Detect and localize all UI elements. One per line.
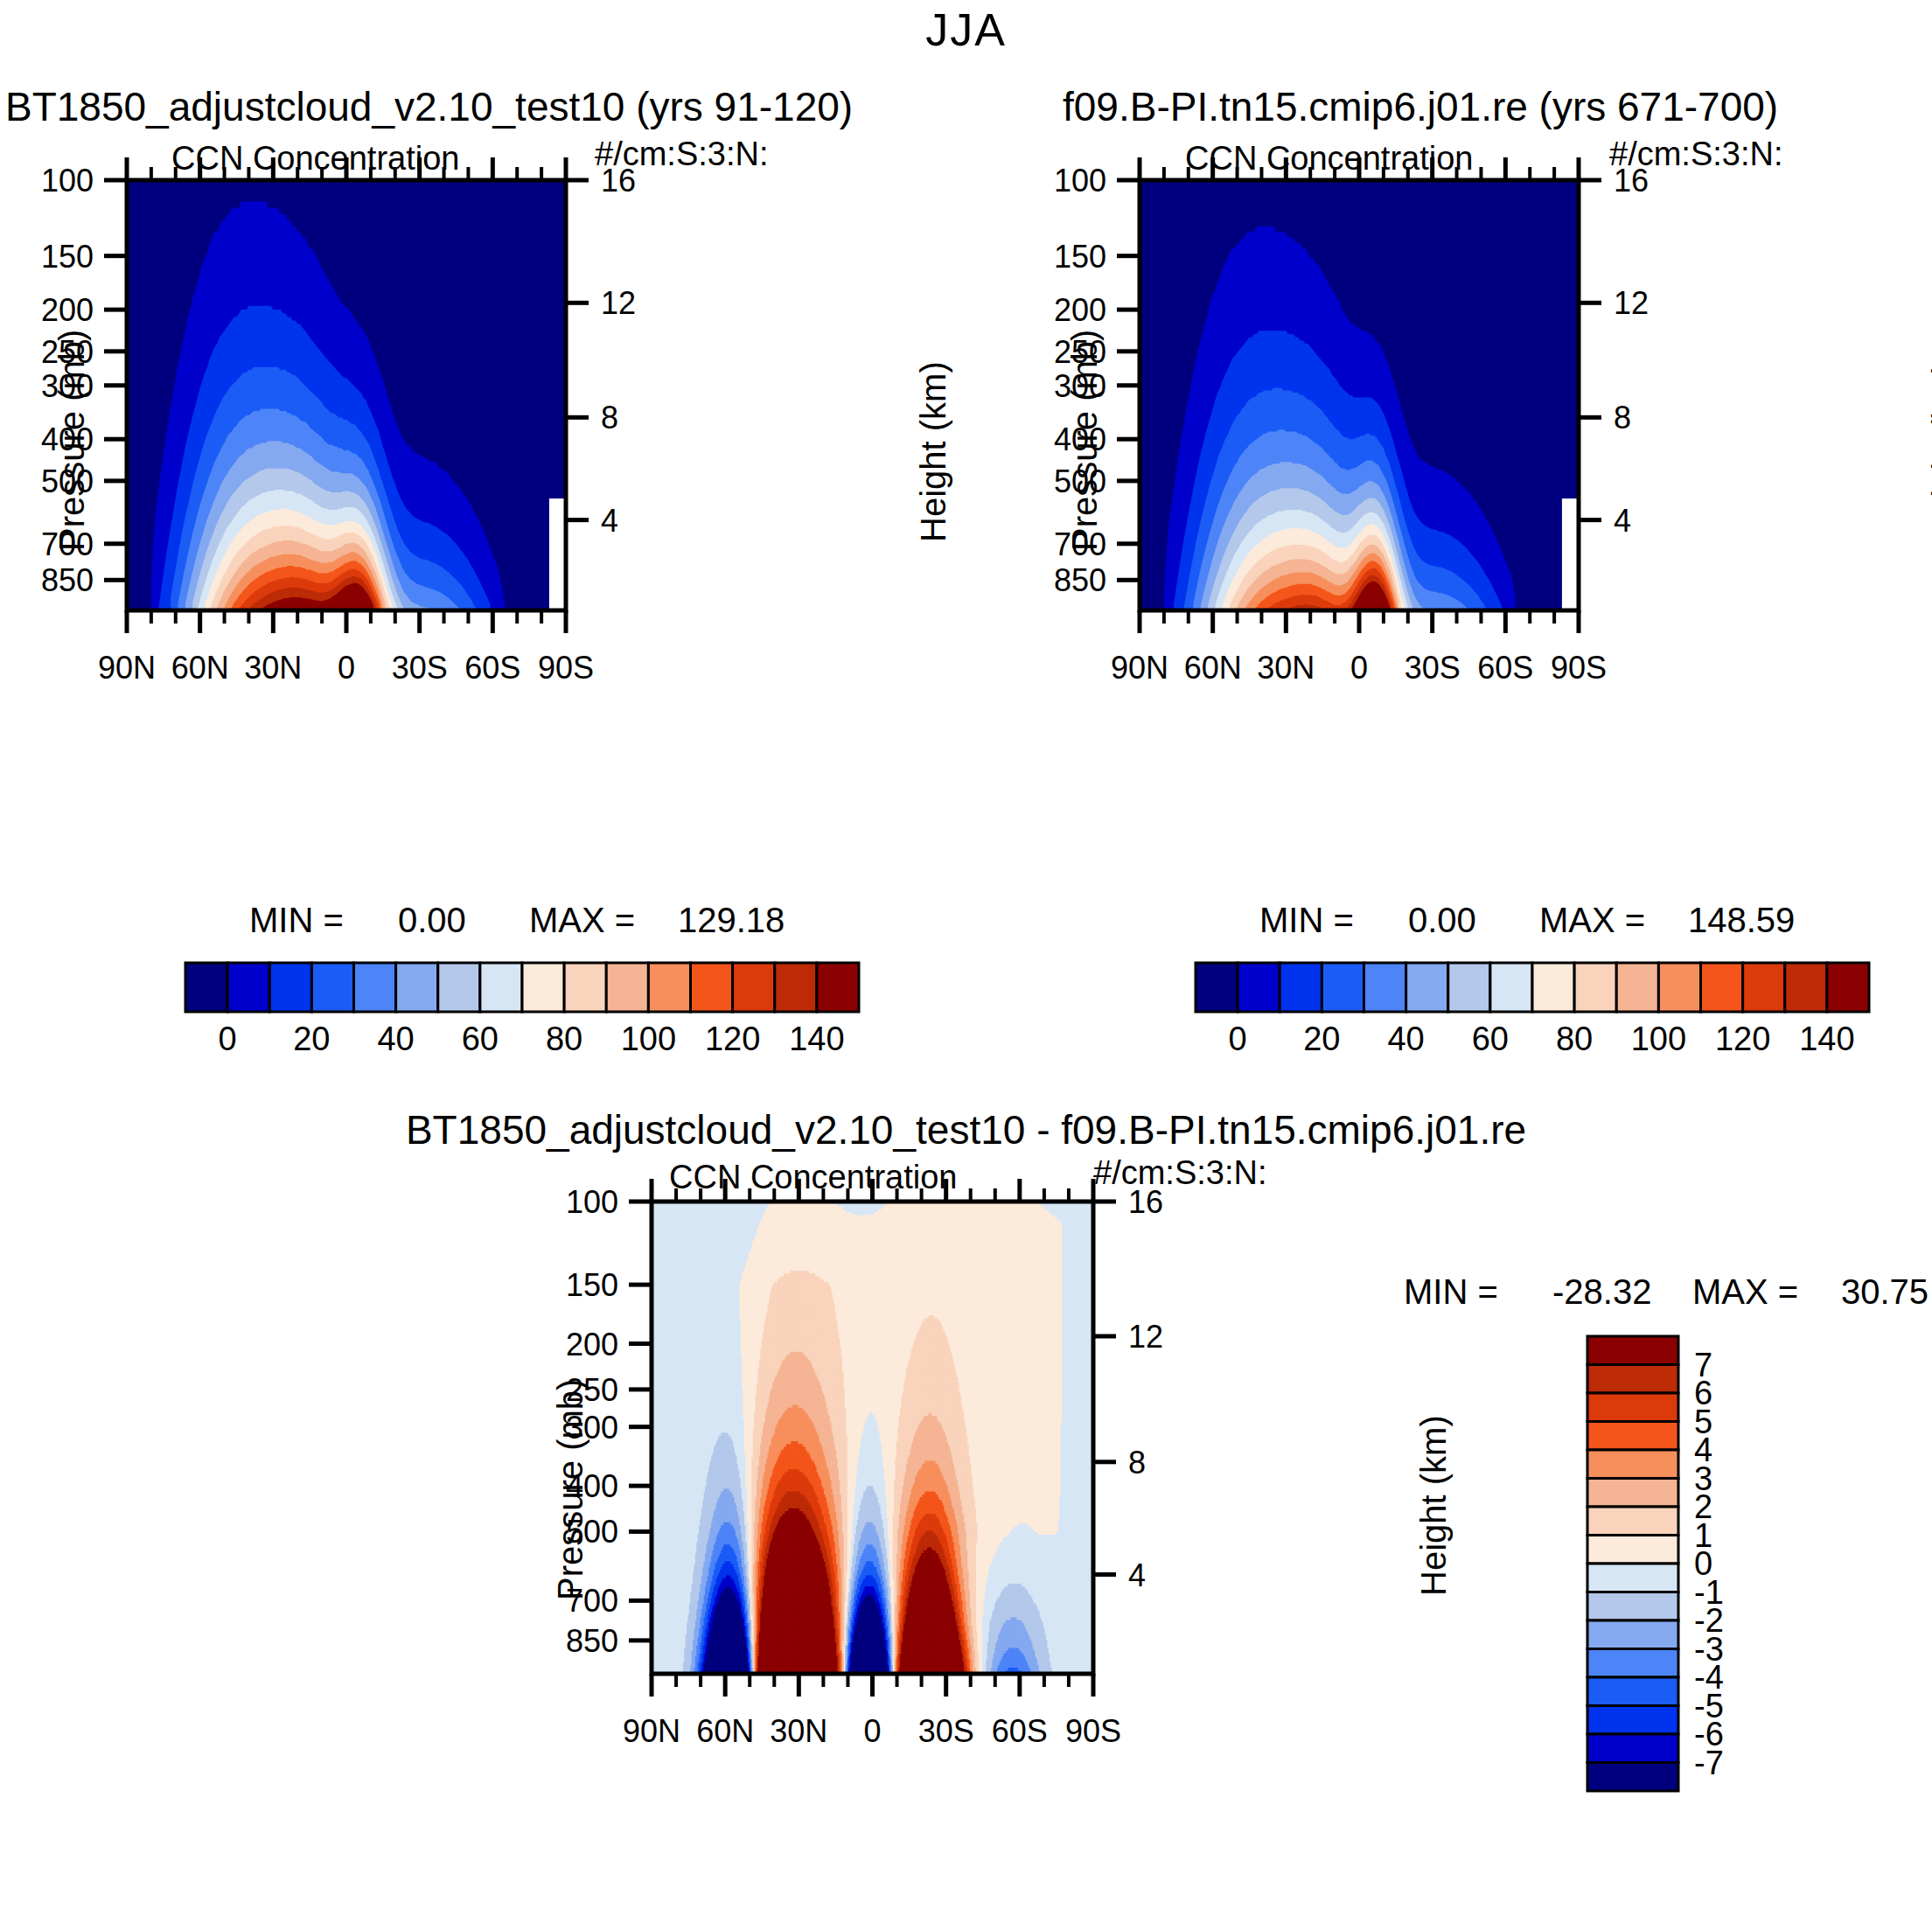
right-max-value: 148.59 (1688, 901, 1795, 940)
pressure-tick-label: 500 (1054, 463, 1106, 499)
lat-tick-label: 30N (770, 1713, 827, 1749)
colorbar-cell[interactable] (1490, 963, 1532, 1012)
colorbar-tick-label: 20 (1303, 1021, 1340, 1057)
colorbar-tick-label: 100 (621, 1021, 676, 1057)
contour-fill-region (1140, 180, 1579, 610)
colorbar-cell[interactable] (775, 963, 817, 1012)
lat-tick-label: 60S (1477, 650, 1533, 686)
colorbar-cell[interactable] (438, 963, 480, 1012)
colorbar-cell[interactable] (1587, 1564, 1678, 1592)
colorbar-cell[interactable] (1280, 963, 1322, 1012)
colorbar-cell[interactable] (817, 963, 859, 1012)
height-tick-label: 16 (1128, 1184, 1163, 1220)
left-contour-plot: 10015020025030040050070085016128490N60N3… (0, 175, 945, 909)
diff-max-value: 30.75 (1841, 1272, 1929, 1312)
colorbar-cell[interactable] (1196, 963, 1238, 1012)
lat-tick-label: 30S (1405, 650, 1461, 686)
lat-tick-label: 30S (918, 1713, 974, 1749)
lat-tick-label: 90N (623, 1713, 680, 1749)
right-min-value: 0.00 (1408, 901, 1476, 940)
right-max-label: MAX = (1539, 901, 1645, 940)
lat-tick-label: 0 (1350, 650, 1368, 686)
colorbar-cell[interactable] (1587, 1365, 1678, 1394)
colorbar-cell[interactable] (354, 963, 396, 1012)
colorbar-cell[interactable] (1587, 1479, 1678, 1508)
left-variable-label: CCN Concentration (171, 140, 459, 178)
height-tick-label: 12 (601, 285, 636, 321)
height-tick-label: 16 (601, 163, 636, 199)
colorbar-tick-label: 20 (293, 1021, 330, 1057)
colorbar-tick-label: 140 (789, 1021, 844, 1057)
colorbar-tick-label: 120 (1715, 1021, 1770, 1057)
colorbar-cell[interactable] (1587, 1706, 1678, 1735)
lat-tick-label: 90N (1111, 650, 1168, 686)
colorbar-cell[interactable] (1658, 963, 1700, 1012)
colorbar-cell[interactable] (1587, 1393, 1678, 1422)
height-tick-label: 4 (1128, 1557, 1146, 1593)
colorbar-cell[interactable] (1587, 1763, 1678, 1792)
lat-tick-label: 60S (464, 650, 520, 686)
height-tick-label: 8 (601, 400, 618, 435)
lat-tick-label: 0 (338, 650, 355, 686)
diff-max-label: MAX = (1692, 1272, 1798, 1312)
left-panel-title: BT1850_adjustcloud_v2.10_test10 (yrs 91-… (5, 83, 853, 130)
diff-units-label: #/cm:S:3:N: (1093, 1154, 1267, 1192)
colorbar-tick-label: 140 (1799, 1021, 1854, 1057)
pressure-tick-label: 150 (566, 1267, 618, 1303)
colorbar-tick-label: 80 (546, 1021, 582, 1057)
season-title: JJA (925, 3, 1007, 56)
pressure-tick-label: 850 (1054, 562, 1106, 598)
colorbar-cell[interactable] (311, 963, 353, 1012)
pressure-tick-label: 500 (41, 463, 94, 499)
colorbar-cell[interactable] (733, 963, 775, 1012)
right-panel-title: f09.B-PI.tn15.cmip6.j01.re (yrs 671-700) (1063, 83, 1778, 130)
left-max-value: 129.18 (678, 901, 785, 940)
lat-tick-label: 60N (1184, 650, 1242, 686)
pressure-tick-label: 400 (41, 422, 94, 457)
colorbar-cell[interactable] (1743, 963, 1785, 1012)
diff-contour-plot: 10015020025030040050070085016128490N60N3… (499, 1196, 1461, 1923)
lat-tick-label: 0 (863, 1713, 881, 1749)
left-min-label: MIN = (249, 901, 344, 940)
left-max-label: MAX = (529, 901, 635, 940)
diff-min-value: -28.32 (1552, 1272, 1651, 1312)
colorbar-cell[interactable] (1587, 1620, 1678, 1649)
lat-tick-label: 90S (538, 650, 594, 686)
lat-tick-label: 60N (696, 1713, 754, 1749)
pressure-tick-label: 150 (41, 239, 94, 275)
lat-tick-label: 90N (98, 650, 156, 686)
right-min-label: MIN = (1259, 901, 1354, 940)
colorbar-cell[interactable] (1587, 1507, 1678, 1536)
pressure-tick-label: 400 (1054, 422, 1106, 457)
colorbar-cell[interactable] (396, 963, 438, 1012)
colorbar-tick-label: 120 (705, 1021, 760, 1057)
colorbar-cell[interactable] (1616, 963, 1658, 1012)
colorbar-cell[interactable] (1587, 1536, 1678, 1564)
lat-tick-label: 30N (1257, 650, 1315, 686)
colorbar-tick-label: 0 (1229, 1021, 1247, 1057)
pressure-tick-label: 200 (566, 1327, 618, 1362)
colorbar-cell[interactable] (1587, 1734, 1678, 1763)
pressure-tick-label: 700 (1054, 526, 1106, 562)
diff-colorbar[interactable]: 76543210-1-2-3-4-5-6-7 (1579, 1329, 1771, 1819)
colorbar-tick-label: -7 (1694, 1745, 1724, 1781)
pressure-tick-label: 250 (41, 334, 94, 370)
pressure-tick-label: 100 (1054, 163, 1106, 199)
colorbar-cell[interactable] (185, 963, 227, 1012)
left-min-value: 0.00 (398, 901, 466, 940)
colorbar-cell[interactable] (606, 963, 648, 1012)
colorbar-tick-label: 60 (462, 1021, 499, 1057)
height-tick-label: 12 (1614, 285, 1649, 321)
lat-tick-label: 60S (992, 1713, 1048, 1749)
lat-tick-label: 30N (244, 650, 302, 686)
colorbar-cell[interactable] (691, 963, 733, 1012)
pressure-tick-label: 150 (1054, 239, 1106, 275)
right-variable-label: CCN Concentration (1185, 140, 1473, 178)
height-tick-label: 8 (1614, 400, 1631, 435)
diff-variable-label: CCN Concentration (669, 1159, 957, 1196)
contour-fill-region (652, 1201, 1093, 1674)
pressure-tick-label: 300 (1054, 368, 1106, 404)
colorbar-cell[interactable] (269, 963, 311, 1012)
colorbar-cell[interactable] (1587, 1336, 1678, 1365)
pressure-tick-label: 100 (41, 163, 94, 199)
colorbar-cell[interactable] (1322, 963, 1364, 1012)
pressure-tick-label: 200 (41, 292, 94, 328)
colorbar-cell[interactable] (1364, 963, 1406, 1012)
height-tick-label: 4 (1614, 503, 1631, 539)
colorbar-cell[interactable] (522, 963, 564, 1012)
pressure-tick-label: 850 (41, 562, 94, 598)
colorbar-cell[interactable] (1587, 1677, 1678, 1706)
colorbar-cell[interactable] (1587, 1592, 1678, 1621)
colorbar-cell[interactable] (1406, 963, 1448, 1012)
colorbar-tick-label: 60 (1472, 1021, 1509, 1057)
right-colorbar[interactable]: 020406080100120140 (1185, 958, 1885, 1071)
colorbar-cell[interactable] (480, 963, 522, 1012)
diff-min-label: MIN = (1404, 1272, 1498, 1312)
pressure-tick-label: 850 (566, 1623, 618, 1659)
colorbar-cell[interactable] (1448, 963, 1490, 1012)
left-colorbar[interactable]: 020406080100120140 (175, 958, 875, 1071)
right-contour-plot: 10015020025030040050070085016128490N60N3… (1013, 175, 1932, 909)
height-tick-label: 8 (1128, 1445, 1146, 1481)
colorbar-cell[interactable] (1701, 963, 1743, 1012)
pressure-tick-label: 700 (41, 526, 94, 562)
colorbar-cell[interactable] (1587, 1422, 1678, 1451)
height-tick-label: 12 (1128, 1319, 1163, 1355)
colorbar-tick-label: 100 (1631, 1021, 1686, 1057)
colorbar-cell[interactable] (1532, 963, 1574, 1012)
lat-tick-label: 90S (1065, 1713, 1121, 1749)
colorbar-cell[interactable] (648, 963, 690, 1012)
lat-tick-label: 60N (171, 650, 229, 686)
pressure-tick-label: 400 (566, 1468, 618, 1504)
colorbar-cell[interactable] (1574, 963, 1616, 1012)
colorbar-tick-label: 40 (377, 1021, 414, 1057)
pressure-tick-label: 250 (1054, 334, 1106, 370)
height-tick-label: 16 (1614, 163, 1649, 199)
pressure-tick-label: 500 (566, 1514, 618, 1550)
height-tick-label: 4 (601, 503, 618, 539)
colorbar-cell[interactable] (1785, 963, 1827, 1012)
colorbar-cell[interactable] (227, 963, 269, 1012)
pressure-tick-label: 700 (566, 1583, 618, 1619)
pressure-tick-label: 300 (566, 1410, 618, 1446)
colorbar-cell[interactable] (1827, 963, 1869, 1012)
colorbar-cell[interactable] (1238, 963, 1280, 1012)
pressure-tick-label: 300 (41, 368, 94, 404)
colorbar-tick-label: 40 (1387, 1021, 1424, 1057)
lat-tick-label: 90S (1551, 650, 1607, 686)
pressure-tick-label: 250 (566, 1372, 618, 1408)
lat-tick-label: 30S (392, 650, 448, 686)
colorbar-tick-label: 80 (1556, 1021, 1593, 1057)
colorbar-cell[interactable] (564, 963, 606, 1012)
pressure-tick-label: 100 (566, 1184, 618, 1220)
colorbar-tick-label: 0 (219, 1021, 237, 1057)
pressure-tick-label: 200 (1054, 292, 1106, 328)
diff-panel-title: BT1850_adjustcloud_v2.10_test10 - f09.B-… (406, 1106, 1526, 1153)
colorbar-cell[interactable] (1587, 1450, 1678, 1479)
colorbar-cell[interactable] (1587, 1649, 1678, 1678)
contour-fill-region (127, 180, 566, 610)
